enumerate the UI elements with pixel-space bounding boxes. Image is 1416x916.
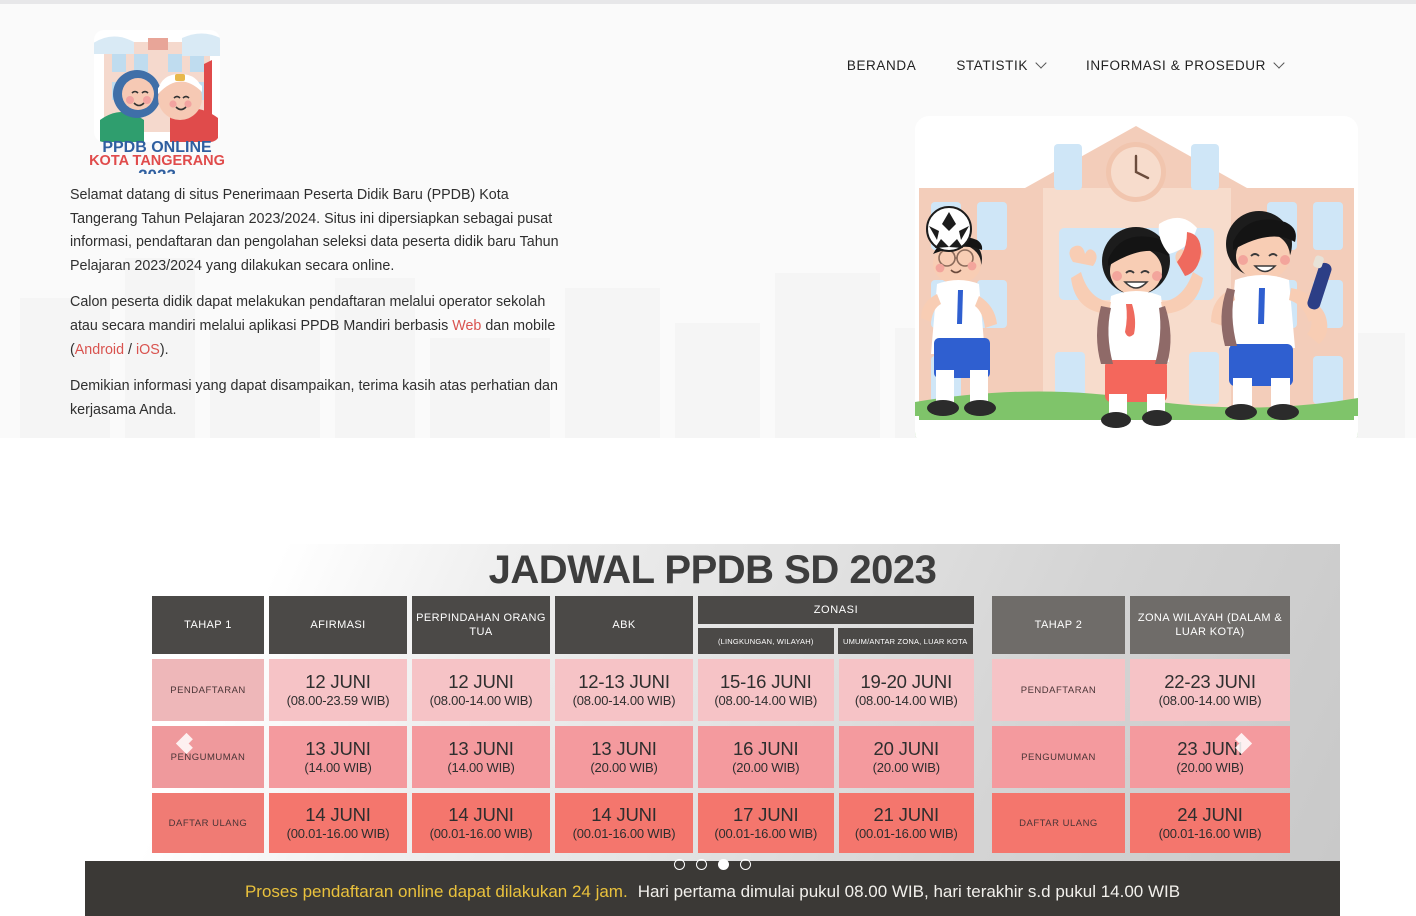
cell-r2-zonasi-1: 16 JUNI (20.00 WIB) [698,726,834,788]
nav-item-informasi-prosedur[interactable]: INFORMASI & PROSEDUR [1066,52,1304,79]
header-tahap-1-label: TAHAP 1 [184,618,232,632]
cell-r1-abk: 12-13 JUNI (08.00-14.00 WIB) [555,659,693,721]
cell-r2-zonasi-1-time: (20.00 WIB) [732,759,799,776]
cell-r1-zona-wilayah: 22-23 JUNI (08.00-14.00 WIB) [1130,659,1290,721]
header-zonasi-sub-1-label: (LINGKUNGAN, WILAYAH) [718,637,814,646]
cell-r1-zona-wilayah-date: 22-23 JUNI [1164,671,1256,692]
cell-r2-perpindahan-date: 13 JUNI [448,738,513,759]
cell-r2-afirmasi: 13 JUNI (14.00 WIB) [269,726,407,788]
cell-r3-afirmasi-time: (00.01-16.00 WIB) [287,825,390,842]
header-zona-wilayah: ZONA WILAYAH (DALAM & LUAR KOTA) [1130,596,1290,654]
link-ios[interactable]: iOS [136,342,160,358]
header-zona-wilayah-label: ZONA WILAYAH (DALAM & LUAR KOTA) [1130,611,1290,639]
cell-r1-afirmasi: 12 JUNI (08.00-23.59 WIB) [269,659,407,721]
row-3-tahap1-cells: DAFTAR ULANG 14 JUNI (00.01-16.00 WIB) 1… [152,793,974,853]
header-zonasi: ZONASI [698,596,974,624]
cell-r3-zona-wilayah-time: (00.01-16.00 WIB) [1159,825,1262,842]
header-afirmasi-label: AFIRMASI [310,618,365,632]
cell-r2-perpindahan: 13 JUNI (14.00 WIB) [412,726,550,788]
cell-r3-abk-date: 14 JUNI [591,804,656,825]
row-1-label-tahap2: PENDAFTARAN [992,659,1125,721]
cell-r2-abk-time: (20.00 WIB) [590,759,657,776]
cell-r1-abk-date: 12-13 JUNI [578,671,670,692]
header-zonasi-label: ZONASI [814,604,859,616]
row-2-tahap1-cells: PENGUMUMAN 13 JUNI (14.00 WIB) 13 JUNI (… [152,726,974,788]
group-divider [979,726,987,788]
header-zonasi-sub-2-label: UMUM/ANTAR ZONA, LUAR KOTA [843,637,968,646]
header-abk: ABK [555,596,693,654]
cell-r1-zonasi-2: 19-20 JUNI (08.00-14.00 WIB) [839,659,975,721]
carousel-dot-4[interactable] [740,859,751,870]
header-tahap-2-label: TAHAP 2 [1035,618,1083,632]
row-3-tahap2-cells: DAFTAR ULANG 24 JUNI (00.01-16.00 WIB) [992,793,1290,853]
cell-r1-zonasi-2-time: (08.00-14.00 WIB) [855,692,958,709]
chevron-down-icon [1275,59,1284,68]
row-3-label: DAFTAR ULANG [152,793,264,853]
cell-r3-zonasi-2-time: (00.01-16.00 WIB) [855,825,958,842]
table-row: DAFTAR ULANG 14 JUNI (00.01-16.00 WIB) 1… [152,793,1277,853]
hero-paragraph-2-part-d: ). [160,342,169,358]
nav-item-beranda[interactable]: BERANDA [827,52,936,79]
row-1-tahap1-cells: PENDAFTARAN 12 JUNI (08.00-23.59 WIB) 12… [152,659,974,721]
tahap1-group: TAHAP 1 AFIRMASI PERPINDAHAN ORANG TUA A… [152,596,974,654]
cell-r3-zona-wilayah: 24 JUNI (00.01-16.00 WIB) [1130,793,1290,853]
cell-r3-zonasi-1-time: (00.01-16.00 WIB) [714,825,817,842]
cell-r3-abk-time: (00.01-16.00 WIB) [573,825,676,842]
main-navigation: BERANDA STATISTIK INFORMASI & PROSEDUR [827,52,1304,79]
row-3-label-tahap2: DAFTAR ULANG [992,793,1125,853]
header-tahap-2: TAHAP 2 [992,596,1125,654]
link-web[interactable]: Web [452,318,481,334]
cell-r1-perpindahan-date: 12 JUNI [448,671,513,692]
group-divider [979,596,987,654]
cell-r3-afirmasi: 14 JUNI (00.01-16.00 WIB) [269,793,407,853]
cell-r3-zonasi-1: 17 JUNI (00.01-16.00 WIB) [698,793,834,853]
carousel-prev-arrow[interactable] [169,726,203,760]
carousel-dot-1[interactable] [674,859,685,870]
chevron-left-icon [175,732,196,753]
cell-r1-afirmasi-time: (08.00-23.59 WIB) [287,692,390,709]
cell-r3-perpindahan-time: (00.01-16.00 WIB) [430,825,533,842]
header-zonasi-group: ZONASI (LINGKUNGAN, WILAYAH) UMUM/ANTAR … [698,596,974,654]
schedule-carousel[interactable]: JADWAL PPDB SD 2023 TAHAP 1 AFIRMASI PER… [85,544,1340,916]
cell-r3-zonasi-2-date: 21 JUNI [874,804,939,825]
slide-footer-highlight: Proses pendaftaran online dapat dilakuka… [245,882,628,902]
header-afirmasi: AFIRMASI [269,596,407,654]
table-row: PENDAFTARAN 12 JUNI (08.00-23.59 WIB) 12… [152,659,1277,721]
row-1-label-text: PENDAFTARAN [170,685,246,696]
hero-paragraph-1: Selamat datang di situs Penerimaan Peser… [70,184,570,278]
row-1-tahap2-cells: PENDAFTARAN 22-23 JUNI (08.00-14.00 WIB) [992,659,1290,721]
nav-label-statistik: STATISTIK [956,58,1028,73]
illustration-svg [915,116,1358,438]
students-school-illustration [915,116,1358,438]
hero-welcome-text: Selamat datang di situs Penerimaan Peser… [70,184,570,422]
hero-paragraph-3: Demikian informasi yang dapat disampaika… [70,375,570,422]
ppdb-logo-icon: PPDB ONLINE KOTA TANGERANG 2023 [82,24,232,174]
cell-r1-zonasi-1-time: (08.00-14.00 WIB) [714,692,817,709]
cell-r3-perpindahan-date: 14 JUNI [448,804,513,825]
cell-r1-zona-wilayah-time: (08.00-14.00 WIB) [1159,692,1262,709]
row-3-label-tahap2-text: DAFTAR ULANG [1019,818,1098,829]
chevron-down-icon [1037,59,1046,68]
cell-r1-perpindahan-time: (08.00-14.00 WIB) [430,692,533,709]
header-perpindahan-orang-tua: PERPINDAHAN ORANG TUA [412,596,550,654]
cell-r2-afirmasi-date: 13 JUNI [305,738,370,759]
carousel-dot-2[interactable] [696,859,707,870]
group-divider [979,659,987,721]
cell-r2-zona-wilayah: 23 JUNI (20.00 WIB) [1130,726,1290,788]
cell-r2-zona-wilayah-time: (20.00 WIB) [1176,759,1243,776]
slide-title: JADWAL PPDB SD 2023 [85,548,1340,593]
nav-label-informasi-prosedur: INFORMASI & PROSEDUR [1086,58,1266,73]
header-zonasi-sub-2: UMUM/ANTAR ZONA, LUAR KOTA [838,628,974,654]
header-perpindahan-label: PERPINDAHAN ORANG TUA [412,611,550,639]
carousel-next-arrow[interactable] [1224,726,1258,760]
cell-r2-perpindahan-time: (14.00 WIB) [447,759,514,776]
cell-r3-afirmasi-date: 14 JUNI [305,804,370,825]
row-2-label-tahap2-text: PENGUMUMAN [1021,752,1096,763]
page-root: PPDB ONLINE KOTA TANGERANG 2023 BERANDA … [0,0,1416,916]
cell-r3-perpindahan: 14 JUNI (00.01-16.00 WIB) [412,793,550,853]
site-logo[interactable]: PPDB ONLINE KOTA TANGERANG 2023 [82,24,232,174]
chevron-right-icon [1230,732,1251,753]
nav-item-statistik[interactable]: STATISTIK [936,52,1066,79]
cell-r3-zonasi-2: 21 JUNI (00.01-16.00 WIB) [839,793,975,853]
nav-label-beranda: BERANDA [847,58,916,73]
link-android[interactable]: Android [75,342,124,358]
header-tahap-1: TAHAP 1 [152,596,264,654]
cell-r2-zonasi-1-date: 16 JUNI [733,738,798,759]
header-zonasi-subrow: (LINGKUNGAN, WILAYAH) UMUM/ANTAR ZONA, L… [698,628,974,654]
cell-r2-zonasi-2-date: 20 JUNI [874,738,939,759]
tahap2-group: TAHAP 2 ZONA WILAYAH (DALAM & LUAR KOTA) [992,596,1290,654]
cell-r1-afirmasi-date: 12 JUNI [305,671,370,692]
slide-footer-text: Hari pertama dimulai pukul 08.00 WIB, ha… [638,882,1180,902]
table-row: PENGUMUMAN 13 JUNI (14.00 WIB) 13 JUNI (… [152,726,1277,788]
cell-r1-zonasi-1-date: 15-16 JUNI [720,671,812,692]
group-divider [979,793,987,853]
table-header-row: TAHAP 1 AFIRMASI PERPINDAHAN ORANG TUA A… [152,596,1277,654]
row-3-label-text: DAFTAR ULANG [169,818,248,829]
cell-r1-abk-time: (08.00-14.00 WIB) [573,692,676,709]
cell-r2-zonasi-2: 20 JUNI (20.00 WIB) [839,726,975,788]
header-zonasi-sub-1: (LINGKUNGAN, WILAYAH) [698,628,834,654]
cell-r3-abk: 14 JUNI (00.01-16.00 WIB) [555,793,693,853]
hero-paragraph-2-part-c: / [124,342,136,358]
cell-r2-abk: 13 JUNI (20.00 WIB) [555,726,693,788]
schedule-table: TAHAP 1 AFIRMASI PERPINDAHAN ORANG TUA A… [152,596,1277,858]
cell-r2-zonasi-2-time: (20.00 WIB) [873,759,940,776]
hero-paragraph-2: Calon peserta didik dapat melakukan pend… [70,291,570,362]
header-abk-label: ABK [612,618,635,632]
row-1-label-tahap2-text: PENDAFTARAN [1021,685,1097,696]
row-2-label-tahap2: PENGUMUMAN [992,726,1125,788]
hero-section: PPDB ONLINE KOTA TANGERANG 2023 BERANDA … [0,4,1416,438]
svg-text:2023: 2023 [138,166,176,174]
cell-r1-zonasi-1: 15-16 JUNI (08.00-14.00 WIB) [698,659,834,721]
cell-r1-perpindahan: 12 JUNI (08.00-14.00 WIB) [412,659,550,721]
cell-r2-abk-date: 13 JUNI [591,738,656,759]
cell-r2-afirmasi-time: (14.00 WIB) [304,759,371,776]
cell-r1-zonasi-2-date: 19-20 JUNI [860,671,952,692]
cell-r3-zona-wilayah-date: 24 JUNI [1177,804,1242,825]
carousel-dot-3[interactable] [718,859,729,870]
row-1-label: PENDAFTARAN [152,659,264,721]
carousel-pagination-dots [85,859,1340,870]
cell-r3-zonasi-1-date: 17 JUNI [733,804,798,825]
